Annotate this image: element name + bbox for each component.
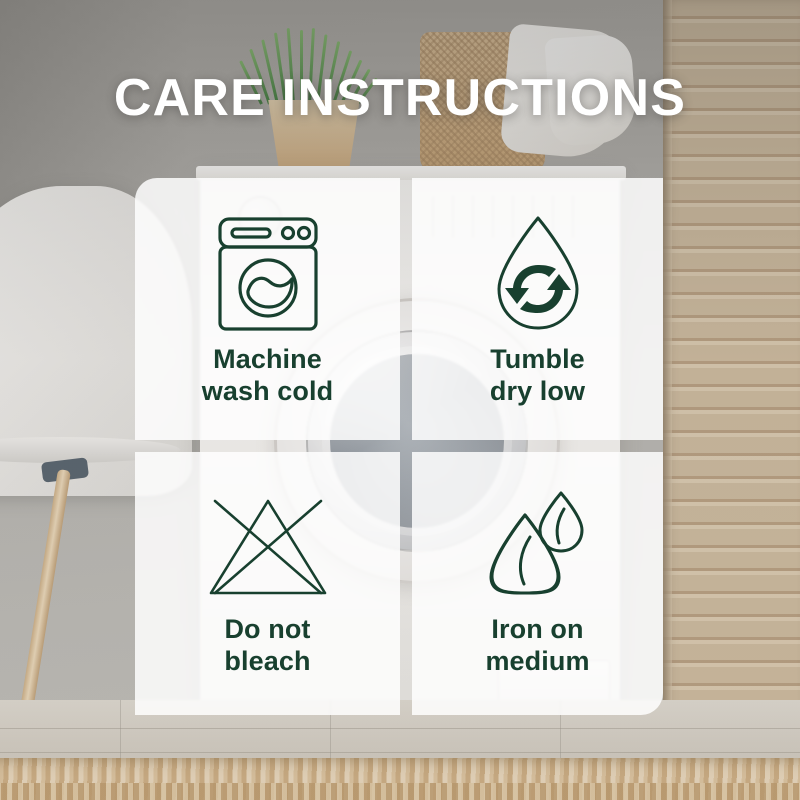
care-card-do-not-bleach[interactable]: Do not bleach xyxy=(135,452,400,715)
care-card-label: Machine wash cold xyxy=(202,344,333,408)
page-title: CARE INSTRUCTIONS xyxy=(0,72,800,124)
care-card-machine-wash-cold[interactable]: Machine wash cold xyxy=(135,178,400,440)
care-instructions-graphic: CARE INSTRUCTIONS Machine wash cold xyxy=(0,0,800,800)
droplet-tumble-dry-icon xyxy=(489,212,587,336)
care-card-iron-on-medium[interactable]: Iron on medium xyxy=(412,452,663,715)
crossed-triangle-no-bleach-icon xyxy=(205,488,331,606)
care-symbol-grid: Machine wash cold Tumble dry low xyxy=(135,178,663,715)
care-card-tumble-dry-low[interactable]: Tumble dry low xyxy=(412,178,663,440)
care-card-label: Iron on medium xyxy=(485,614,589,678)
care-card-label: Tumble dry low xyxy=(490,344,585,408)
care-card-label: Do not bleach xyxy=(224,614,310,678)
washing-machine-icon xyxy=(216,212,320,336)
two-droplets-steam-icon xyxy=(486,480,590,606)
